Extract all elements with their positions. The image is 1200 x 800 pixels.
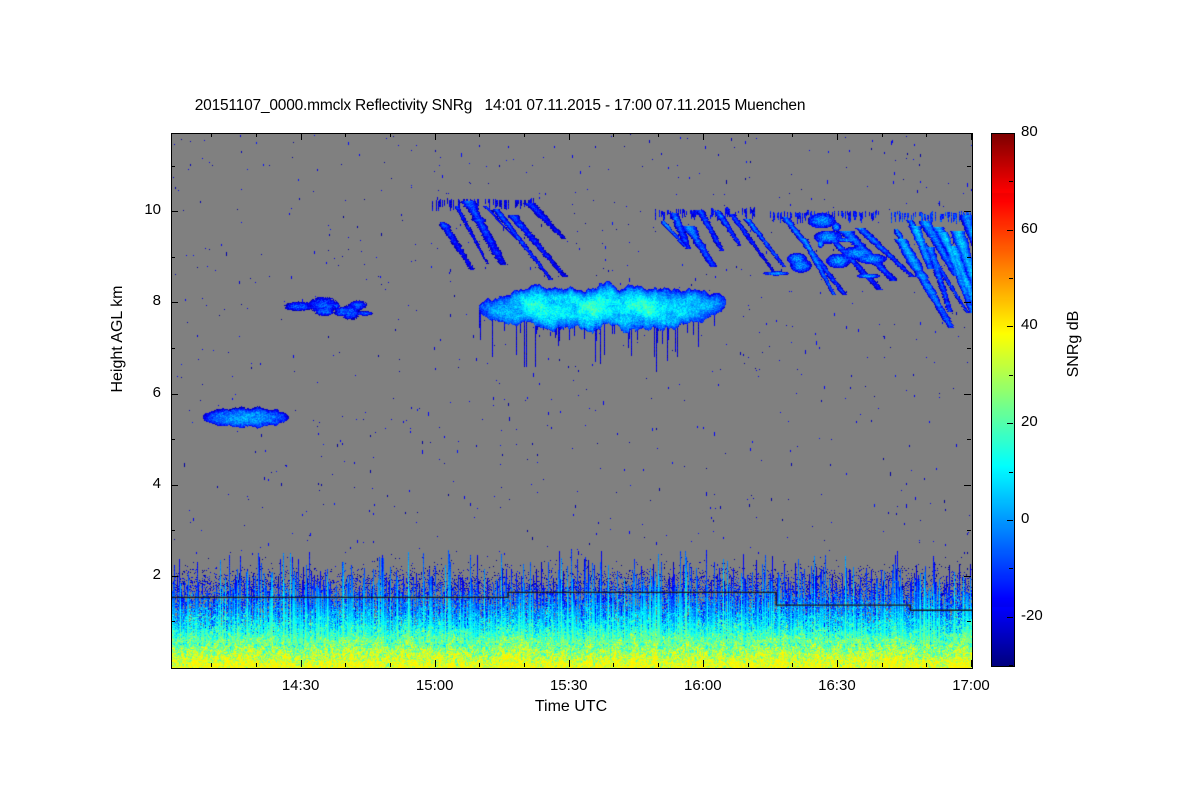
- x-tick-major: [569, 660, 570, 667]
- x-tick-minor: [390, 133, 391, 137]
- colorbar-tick-label: 80: [1021, 123, 1065, 140]
- colorbar-tick-minor: [1009, 568, 1013, 569]
- y-tick-major: [964, 302, 971, 303]
- x-tick-minor: [524, 133, 525, 137]
- x-tick-minor: [658, 663, 659, 667]
- y-tick-minor: [171, 166, 175, 167]
- colorbar-gradient: [992, 134, 1014, 666]
- radar-reflectivity-heatmap: [172, 134, 972, 668]
- x-tick-minor: [524, 663, 525, 667]
- colorbar-tick-major: [1007, 133, 1013, 134]
- x-tick-label: 16:00: [663, 677, 743, 694]
- x-tick-minor: [613, 133, 614, 137]
- x-tick-minor: [256, 133, 257, 137]
- x-tick-minor: [792, 663, 793, 667]
- plot-area: [171, 133, 973, 669]
- colorbar-tick-major: [1007, 423, 1013, 424]
- y-tick-label: 2: [121, 566, 161, 583]
- x-tick-minor: [211, 663, 212, 667]
- y-tick-label: 6: [121, 384, 161, 401]
- y-tick-label: 4: [121, 475, 161, 492]
- x-tick-major: [971, 660, 972, 667]
- y-tick-minor: [967, 166, 971, 167]
- x-tick-label: 16:30: [797, 677, 877, 694]
- y-tick-major: [964, 576, 971, 577]
- x-tick-minor: [479, 663, 480, 667]
- colorbar-tick-major: [1007, 326, 1013, 327]
- x-tick-major: [703, 660, 704, 667]
- x-tick-major: [301, 660, 302, 667]
- x-tick-minor: [792, 133, 793, 137]
- x-tick-minor: [479, 133, 480, 137]
- y-tick-minor: [171, 621, 175, 622]
- y-tick-minor: [967, 530, 971, 531]
- colorbar-tick-label: 60: [1021, 220, 1065, 237]
- x-tick-major: [971, 133, 972, 140]
- x-tick-major: [435, 660, 436, 667]
- page-title: 20151107_0000.mmclx Reflectivity SNRg 14…: [0, 97, 1000, 115]
- y-tick-major: [171, 485, 178, 486]
- y-tick-label: 8: [121, 292, 161, 309]
- x-tick-major: [435, 133, 436, 140]
- y-tick-minor: [967, 439, 971, 440]
- x-tick-major: [703, 133, 704, 140]
- colorbar-tick-label: 0: [1021, 510, 1065, 527]
- y-tick-major: [171, 211, 178, 212]
- x-tick-label: 17:00: [931, 677, 1011, 694]
- colorbar-tick-label: 20: [1021, 413, 1065, 430]
- x-tick-minor: [658, 133, 659, 137]
- y-tick-minor: [967, 257, 971, 258]
- x-tick-minor: [345, 663, 346, 667]
- x-tick-minor: [345, 133, 346, 137]
- y-tick-minor: [171, 348, 175, 349]
- x-tick-minor: [211, 133, 212, 137]
- colorbar-tick-minor: [1009, 375, 1013, 376]
- y-tick-major: [171, 394, 178, 395]
- colorbar-tick-minor: [1009, 472, 1013, 473]
- y-tick-minor: [171, 439, 175, 440]
- x-tick-label: 15:30: [529, 677, 609, 694]
- x-tick-minor: [390, 663, 391, 667]
- colorbar-tick-label: 40: [1021, 316, 1065, 333]
- colorbar-tick-minor: [1009, 278, 1013, 279]
- x-tick-minor: [926, 663, 927, 667]
- x-tick-major: [837, 133, 838, 140]
- colorbar-tick-major: [1007, 520, 1013, 521]
- y-tick-major: [171, 576, 178, 577]
- y-tick-major: [964, 394, 971, 395]
- colorbar-title: SNRg dB: [1065, 244, 1083, 444]
- colorbar-tick-minor: [1009, 181, 1013, 182]
- y-tick-label: 10: [121, 201, 161, 218]
- x-tick-minor: [613, 663, 614, 667]
- x-tick-minor: [748, 133, 749, 137]
- colorbar-tick-label: -20: [1021, 607, 1065, 624]
- y-tick-minor: [171, 530, 175, 531]
- x-tick-major: [837, 660, 838, 667]
- x-tick-major: [569, 133, 570, 140]
- colorbar-tick-minor: [1009, 665, 1013, 666]
- x-axis-title: Time UTC: [171, 698, 971, 716]
- x-tick-major: [301, 133, 302, 140]
- y-tick-minor: [967, 621, 971, 622]
- x-tick-minor: [256, 663, 257, 667]
- y-tick-minor: [967, 348, 971, 349]
- x-tick-label: 15:00: [395, 677, 475, 694]
- y-axis-title: Height AGL km: [109, 219, 127, 459]
- y-tick-minor: [171, 257, 175, 258]
- y-tick-major: [171, 302, 178, 303]
- x-tick-minor: [882, 133, 883, 137]
- y-tick-major: [964, 485, 971, 486]
- x-tick-minor: [748, 663, 749, 667]
- colorbar: [991, 133, 1015, 667]
- y-tick-major: [964, 211, 971, 212]
- radar-timeheight-figure: 20151107_0000.mmclx Reflectivity SNRg 14…: [0, 0, 1200, 800]
- x-tick-minor: [882, 663, 883, 667]
- colorbar-tick-major: [1007, 230, 1013, 231]
- colorbar-tick-major: [1007, 617, 1013, 618]
- x-tick-minor: [926, 133, 927, 137]
- x-tick-label: 14:30: [261, 677, 341, 694]
